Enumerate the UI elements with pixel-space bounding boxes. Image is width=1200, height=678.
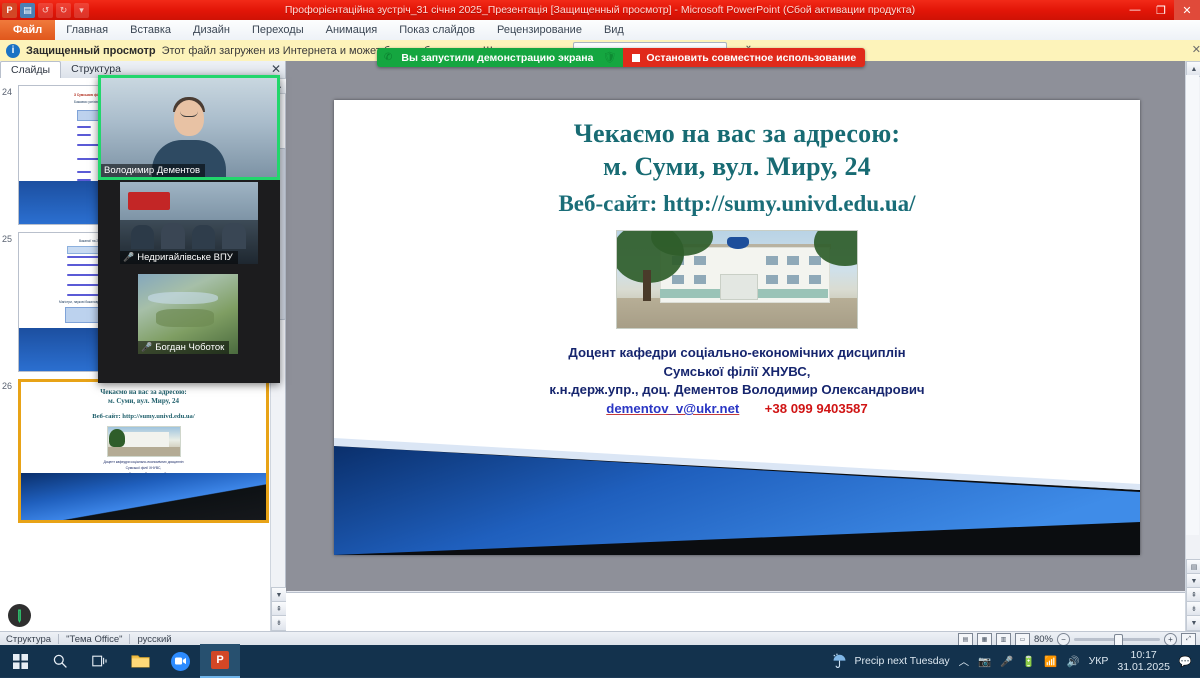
photo-window xyxy=(694,256,706,265)
photo-window xyxy=(809,256,821,265)
contact-line-1: Доцент кафедри соціально-економічних дис… xyxy=(334,344,1140,363)
thumb-heading-1: Чекаємо на вас за адресою: xyxy=(21,388,266,396)
room-banner xyxy=(128,192,169,210)
zoom-in-button[interactable]: + xyxy=(1164,633,1177,646)
weather-widget[interactable]: Precip next Tuesday xyxy=(831,653,950,670)
search-icon[interactable] xyxy=(40,645,80,677)
slide-number: 25 xyxy=(2,234,12,244)
restore-button[interactable]: ❐ xyxy=(1148,0,1174,20)
photo-window xyxy=(787,256,799,265)
participant-name: Богдан Чоботок xyxy=(155,342,224,353)
file-explorer-icon[interactable] xyxy=(120,645,160,677)
slide-number: 24 xyxy=(2,87,12,97)
slide-editor-area: Чекаємо на вас за адресою: м. Суми, вул.… xyxy=(286,61,1186,591)
thumbnail-row[interactable]: 26 Чекаємо на вас за адресою: м. Суми, в… xyxy=(0,379,271,523)
windows-taskbar: P Precip next Tuesday ︿ 📷 🎤 🔋 📶 🔊 УКР 10… xyxy=(0,645,1200,677)
tab-transitions[interactable]: Переходы xyxy=(241,20,315,40)
status-bar: Структура "Тема Office" русский ▤ ▦ ▥ ▭ … xyxy=(0,631,1200,645)
protected-view-title: Защищенный просмотр xyxy=(26,45,156,57)
slide-contact-block: Доцент кафедри соціально-економічних дис… xyxy=(334,344,1140,419)
tab-slides[interactable]: Слайды xyxy=(0,61,61,78)
close-button[interactable]: ✕ xyxy=(1174,0,1200,20)
chevron-up-icon[interactable]: ︿ xyxy=(959,654,970,669)
slideshow-icon[interactable]: ▭ xyxy=(1015,633,1030,646)
clock-date: 31.01.2025 xyxy=(1117,661,1170,673)
status-language[interactable]: русский xyxy=(137,634,171,645)
zoom-slider[interactable] xyxy=(1074,638,1160,641)
slide-heading-line2: м. Суми, вул. Миру, 24 xyxy=(334,151,1140,184)
info-shield-icon: i xyxy=(6,44,20,58)
tab-animations[interactable]: Анимация xyxy=(315,20,389,40)
next-slide-button[interactable]: ⇟ xyxy=(271,615,287,631)
microphone-muted-icon: 🎤 xyxy=(123,252,134,263)
title-bar: P ▤ ↺ ↻ ▾ Профорієнтаційна зустріч_31 сі… xyxy=(0,0,1200,20)
thumb-contact-1: Доцент кафедри соціально-економічних дис… xyxy=(21,460,266,464)
slide-thumbnail-26[interactable]: Чекаємо на вас за адресою: м. Суми, вул.… xyxy=(18,379,269,523)
photo-window xyxy=(766,275,778,285)
contact-line-2: Сумської філії ХНУВС, xyxy=(334,363,1140,382)
status-outline: Структура xyxy=(6,634,51,645)
slide-sorter-icon[interactable]: ▦ xyxy=(977,633,992,646)
photo-window xyxy=(694,275,706,285)
photo-tree-trunk xyxy=(643,270,650,301)
slide-band xyxy=(21,473,266,520)
tab-slideshow[interactable]: Показ слайдов xyxy=(388,20,486,40)
tab-insert[interactable]: Вставка xyxy=(119,20,182,40)
tab-review[interactable]: Рецензирование xyxy=(486,20,593,40)
tab-view[interactable]: Вид xyxy=(593,20,635,40)
normal-view-icon[interactable]: ▤ xyxy=(958,633,973,646)
start-icon[interactable] xyxy=(0,645,40,677)
status-theme: "Тема Office" xyxy=(66,634,122,645)
task-view-icon[interactable] xyxy=(80,645,120,677)
zoom-slider-knob[interactable] xyxy=(1114,634,1123,646)
battery-icon[interactable]: 🔋 xyxy=(1022,655,1035,668)
stop-share-label: Остановить совместное использование xyxy=(646,52,856,64)
weather-text: Precip next Tuesday xyxy=(855,655,950,667)
participant-name-tag: 🎤 Богдан Чоботок xyxy=(138,341,229,354)
contact-line-3: к.н.держ.упр., доц. Дементов Володимир О… xyxy=(334,381,1140,400)
zoom-percent: 80% xyxy=(1034,634,1053,645)
powerpoint-icon[interactable]: P xyxy=(200,644,240,678)
shield-icon: 🛡 xyxy=(602,51,616,64)
participant-tile-3[interactable]: 🎤 Богдан Чоботок xyxy=(138,274,238,354)
photo-window xyxy=(787,275,799,285)
powerpoint-window: P ▤ ↺ ↻ ▾ Профорієнтаційна зустріч_31 сі… xyxy=(0,0,1200,645)
close-icon[interactable]: ✕ xyxy=(1192,43,1200,56)
clock-time: 10:17 xyxy=(1131,649,1157,661)
thumb-photo xyxy=(107,426,181,457)
participant-name: Володимир Дементов xyxy=(104,165,200,176)
participant-tile-2[interactable]: 🎤 Недригайлівське ВПУ xyxy=(120,182,258,264)
window-title: Профорієнтаційна зустріч_31 січня 2025_П… xyxy=(0,4,1200,16)
tab-design[interactable]: Дизайн xyxy=(182,20,241,40)
wifi-icon[interactable]: 📶 xyxy=(1044,655,1057,668)
fit-slide-icon[interactable]: ⤢ xyxy=(1181,633,1196,646)
zoom-video-panel[interactable]: Володимир Дементов 🎤 Недригайлівське ВПУ xyxy=(98,75,280,383)
building-photo xyxy=(616,230,858,329)
slide-decorative-band xyxy=(334,430,1140,555)
slide-number: 26 xyxy=(2,381,12,391)
minimize-button[interactable]: — xyxy=(1122,0,1148,20)
photo-window xyxy=(809,275,821,285)
status-bar-right: ▤ ▦ ▥ ▭ 80% − + ⤢ xyxy=(958,632,1196,645)
current-slide[interactable]: Чекаємо на вас за адресою: м. Суми, вул.… xyxy=(334,100,1140,555)
contact-phone: +38 099 9403587 xyxy=(765,401,868,416)
notification-icon[interactable]: 💬 xyxy=(1179,655,1192,668)
zoom-share-toolbar: ✆ Вы запустили демонстрацию экрана 🛡 Ост… xyxy=(377,48,865,67)
slide-heading-line1: Чекаємо на вас за адресою: xyxy=(334,118,1140,151)
participant-name-tag: 🎤 Недригайлівське ВПУ xyxy=(120,251,238,264)
clock[interactable]: 10:17 31.01.2025 xyxy=(1117,649,1170,673)
tab-home[interactable]: Главная xyxy=(55,20,119,40)
notes-pane[interactable] xyxy=(286,592,1186,632)
slide-heading: Чекаємо на вас за адресою: м. Суми, вул.… xyxy=(334,118,1140,184)
microphone-muted-icon: 🎤 xyxy=(141,342,152,353)
participant-tile-active[interactable]: Володимир Дементов xyxy=(98,75,280,180)
tab-file[interactable]: Файл xyxy=(0,20,55,40)
participant-face xyxy=(174,100,204,136)
close-panel-icon[interactable]: ✕ xyxy=(271,62,281,76)
zoom-icon[interactable] xyxy=(160,645,200,677)
system-tray: Precip next Tuesday ︿ 📷 🎤 🔋 📶 🔊 УКР 10:1… xyxy=(831,645,1200,677)
participant-name: Недригайлівське ВПУ xyxy=(137,252,233,263)
share-status-label: Вы запустили демонстрацию экрана xyxy=(401,52,593,64)
camera-icon[interactable]: 📷 xyxy=(978,655,991,668)
main-scrollbar[interactable]: ▲ ▤ ▼ ⇞ ⇟ ▼ xyxy=(1185,61,1200,631)
photo-window xyxy=(766,256,778,265)
slide-website[interactable]: Веб-сайт: http://sumy.univd.edu.ua/ xyxy=(334,191,1140,217)
window-controls: — ❐ ✕ xyxy=(1122,0,1200,20)
participant-name-tag: Володимир Дементов xyxy=(101,164,205,177)
ribbon-tabs: Файл Главная Вставка Дизайн Переходы Ани… xyxy=(0,20,1200,41)
photo-entrance xyxy=(720,274,758,300)
microphone-icon[interactable]: 🎤 xyxy=(1000,655,1013,668)
stop-square-icon xyxy=(632,54,640,62)
reading-view-icon[interactable]: ▥ xyxy=(996,633,1011,646)
photo-window xyxy=(672,275,684,285)
scroll-down-button-2[interactable]: ▼ xyxy=(1186,615,1200,631)
umbrella-rain-icon xyxy=(831,653,848,670)
zoom-out-button[interactable]: − xyxy=(1057,633,1070,646)
thumb-contact-2: Сумської філії ХНУВС, xyxy=(21,466,266,470)
share-status[interactable]: ✆ Вы запустили демонстрацию экрана 🛡 xyxy=(377,48,623,67)
stop-share-button[interactable]: Остановить совместное использование xyxy=(623,48,865,67)
pen-tool-icon[interactable] xyxy=(8,604,31,627)
phone-icon: ✆ xyxy=(384,52,392,63)
thumb-website: Веб-сайт: http://sumy.univd.edu.ua/ xyxy=(21,413,266,420)
contact-email-link[interactable]: dementov_v@ukr.net xyxy=(606,401,739,416)
thumb-heading-2: м. Суми, вул. Миру, 24 xyxy=(21,397,266,405)
language-indicator[interactable]: УКР xyxy=(1089,655,1109,667)
volume-icon[interactable]: 🔊 xyxy=(1066,655,1079,668)
